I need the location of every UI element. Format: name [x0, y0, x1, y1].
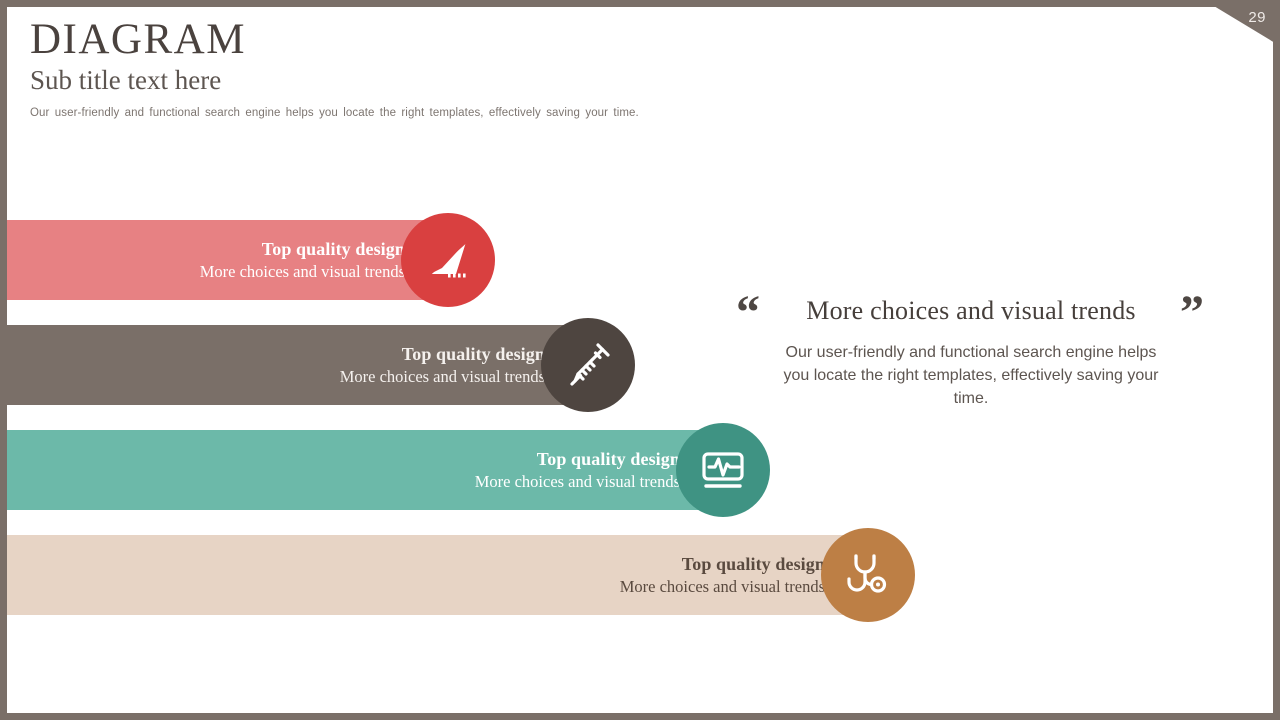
- bar-item-2[interactable]: Top quality designMore choices and visua…: [7, 325, 623, 405]
- bar-item-3[interactable]: Top quality designMore choices and visua…: [7, 430, 758, 510]
- bar-subtitle: More choices and visual trends: [340, 367, 545, 386]
- ecg-monitor-icon: [697, 444, 749, 496]
- quote-open-icon: “: [736, 289, 760, 337]
- slide-canvas: DIAGRAM Sub title text here Our user-fri…: [7, 7, 1273, 713]
- bar-title: Top quality design: [200, 239, 405, 260]
- scalpel-icon-badge[interactable]: [401, 213, 495, 307]
- bar-body: Top quality designMore choices and visua…: [7, 430, 758, 510]
- page-subtitle: Sub title text here: [30, 64, 639, 98]
- bar-title: Top quality design: [340, 344, 545, 365]
- quote-close-icon: ”: [1180, 289, 1204, 337]
- scalpel-icon: [422, 234, 474, 286]
- bar-subtitle: More choices and visual trends: [200, 262, 405, 281]
- page-title: DIAGRAM: [30, 17, 639, 63]
- bar-body: Top quality designMore choices and visua…: [7, 325, 623, 405]
- quote-callout: “ More choices and visual trends ” Our u…: [732, 295, 1210, 410]
- syringe-icon: [562, 339, 614, 391]
- page-lead-text: Our user-friendly and functional search …: [30, 107, 639, 119]
- quote-body-text: Our user-friendly and functional search …: [732, 341, 1210, 411]
- ecg-monitor-icon-badge[interactable]: [676, 423, 770, 517]
- bar-body: Top quality designMore choices and visua…: [7, 535, 903, 615]
- bar-title: Top quality design: [620, 554, 825, 575]
- syringe-icon-badge[interactable]: [541, 318, 635, 412]
- bar-subtitle: More choices and visual trends: [620, 577, 825, 596]
- slide-header: DIAGRAM Sub title text here Our user-fri…: [30, 17, 639, 119]
- bar-title: Top quality design: [475, 449, 680, 470]
- bar-item-1[interactable]: Top quality designMore choices and visua…: [7, 220, 483, 300]
- quote-headline: More choices and visual trends: [760, 295, 1181, 328]
- bar-item-4[interactable]: Top quality designMore choices and visua…: [7, 535, 903, 615]
- stethoscope-icon-badge[interactable]: [821, 528, 915, 622]
- quote-headline-row: “ More choices and visual trends ”: [732, 295, 1210, 328]
- bar-subtitle: More choices and visual trends: [475, 472, 680, 491]
- stethoscope-icon: [842, 549, 894, 601]
- page-number: 29: [1248, 9, 1266, 26]
- slide-frame: DIAGRAM Sub title text here Our user-fri…: [0, 0, 1280, 720]
